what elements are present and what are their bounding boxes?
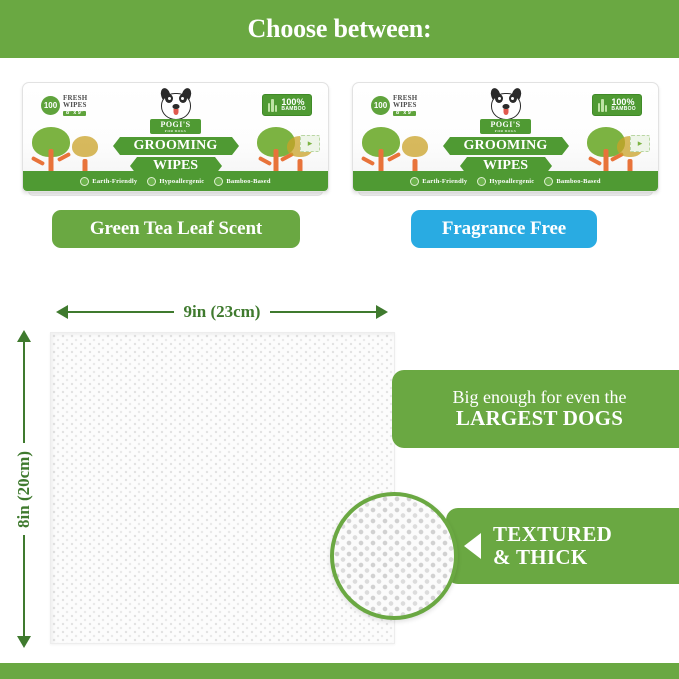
badge-earth-friendly: Earth-Friendly	[80, 177, 137, 186]
wipe-count-value: 100	[41, 96, 60, 115]
brand-banner: POGI'S FOR DOGS	[150, 119, 200, 134]
product-title-line1: GROOMING	[450, 137, 562, 155]
wipe-size-label: 8" x 9"	[63, 111, 86, 117]
page-title: Choose between:	[0, 0, 679, 58]
wipes-label: WIPES	[63, 102, 87, 109]
package-body: 100 FRESH WIPES 8" x 9" 100% BAMBOO	[22, 82, 329, 192]
wipe-count-value: 100	[371, 96, 390, 115]
dimension-line	[68, 311, 174, 313]
triangle-left-icon	[464, 533, 481, 559]
badge-label: Earth-Friendly	[92, 178, 137, 185]
callout-textured-thick: TEXTURED & THICK	[446, 508, 679, 584]
brand-subtitle: FOR DOGS	[490, 129, 520, 133]
badge-earth-friendly: Earth-Friendly	[410, 177, 467, 186]
bamboo-badge: 100% BAMBOO	[592, 94, 642, 116]
badge-label: Bamboo-Based	[226, 178, 270, 185]
arrow-left-icon	[56, 305, 68, 319]
bamboo-icon	[598, 99, 608, 112]
bamboo-label: BAMBOO	[281, 107, 306, 112]
shield-icon	[147, 177, 156, 186]
bamboo-stalk-icon	[544, 177, 553, 186]
callout-line1: Big enough for even the	[453, 387, 627, 407]
leaf-icon	[80, 177, 89, 186]
dimension-line	[23, 342, 25, 443]
dimension-line	[270, 311, 376, 313]
badge-label: Earth-Friendly	[422, 178, 467, 185]
width-dimension-label: 9in (23cm)	[174, 302, 271, 322]
bamboo-badge: 100% BAMBOO	[262, 94, 312, 116]
brand-name: POGI'S	[160, 120, 190, 129]
dog-face-icon	[486, 89, 526, 123]
open-flap-arrow-icon: ▸	[630, 135, 650, 152]
width-dimension: 9in (23cm)	[56, 300, 388, 324]
brand-name: POGI'S	[490, 120, 520, 129]
package-body: 100 FRESH WIPES 8" x 9" 100% BAMBOO	[352, 82, 659, 192]
height-dimension-label: 8in (20cm)	[14, 443, 34, 536]
wipes-label: WIPES	[393, 102, 417, 109]
product-package-green-tea[interactable]: 100 FRESH WIPES 8" x 9" 100% BAMBOO	[22, 82, 329, 192]
wipe-size-label: 8" x 9"	[393, 111, 416, 117]
open-flap-arrow-icon: ▸	[300, 135, 320, 152]
callout-line1: TEXTURED	[493, 523, 612, 546]
badge-bamboo-based: Bamboo-Based	[544, 177, 600, 186]
arrow-down-icon	[17, 636, 31, 648]
badge-label: Hypoallergenic	[159, 178, 204, 185]
leaf-icon	[410, 177, 419, 186]
shield-icon	[477, 177, 486, 186]
badge-label: Hypoallergenic	[489, 178, 534, 185]
texture-magnifier-circle	[330, 492, 458, 620]
callout-line2: LARGEST DOGS	[456, 407, 623, 431]
feature-badge-strip: Earth-Friendly Hypoallergenic Bamboo-Bas…	[23, 171, 328, 191]
dog-face-icon	[156, 89, 196, 123]
badge-bamboo-based: Bamboo-Based	[214, 177, 270, 186]
footer-band	[0, 663, 679, 679]
wipe-count-badge: 100 FRESH WIPES 8" x 9"	[41, 95, 87, 116]
callout-line2: & THICK	[493, 546, 612, 569]
badge-label: Bamboo-Based	[556, 178, 600, 185]
variant-button-green-tea-leaf-scent[interactable]: Green Tea Leaf Scent	[52, 210, 300, 248]
brand-banner: POGI'S FOR DOGS	[480, 119, 530, 134]
wipe-sheet-illustration	[50, 332, 395, 644]
feature-badge-strip: Earth-Friendly Hypoallergenic Bamboo-Bas…	[353, 171, 658, 191]
bamboo-icon	[268, 99, 278, 112]
arrow-right-icon	[376, 305, 388, 319]
arrow-up-icon	[17, 330, 31, 342]
wipe-count-badge: 100 FRESH WIPES 8" x 9"	[371, 95, 417, 116]
bamboo-label: BAMBOO	[611, 107, 636, 112]
callout-largest-dogs: Big enough for even the LARGEST DOGS	[392, 370, 679, 448]
product-package-fragrance-free[interactable]: 100 FRESH WIPES 8" x 9" 100% BAMBOO	[352, 82, 659, 192]
dimension-line	[23, 535, 25, 636]
variant-button-fragrance-free[interactable]: Fragrance Free	[411, 210, 597, 248]
badge-hypoallergenic: Hypoallergenic	[477, 177, 534, 186]
brand-subtitle: FOR DOGS	[160, 129, 190, 133]
height-dimension: 8in (20cm)	[12, 330, 36, 648]
badge-hypoallergenic: Hypoallergenic	[147, 177, 204, 186]
product-title-line1: GROOMING	[120, 137, 232, 155]
bamboo-stalk-icon	[214, 177, 223, 186]
